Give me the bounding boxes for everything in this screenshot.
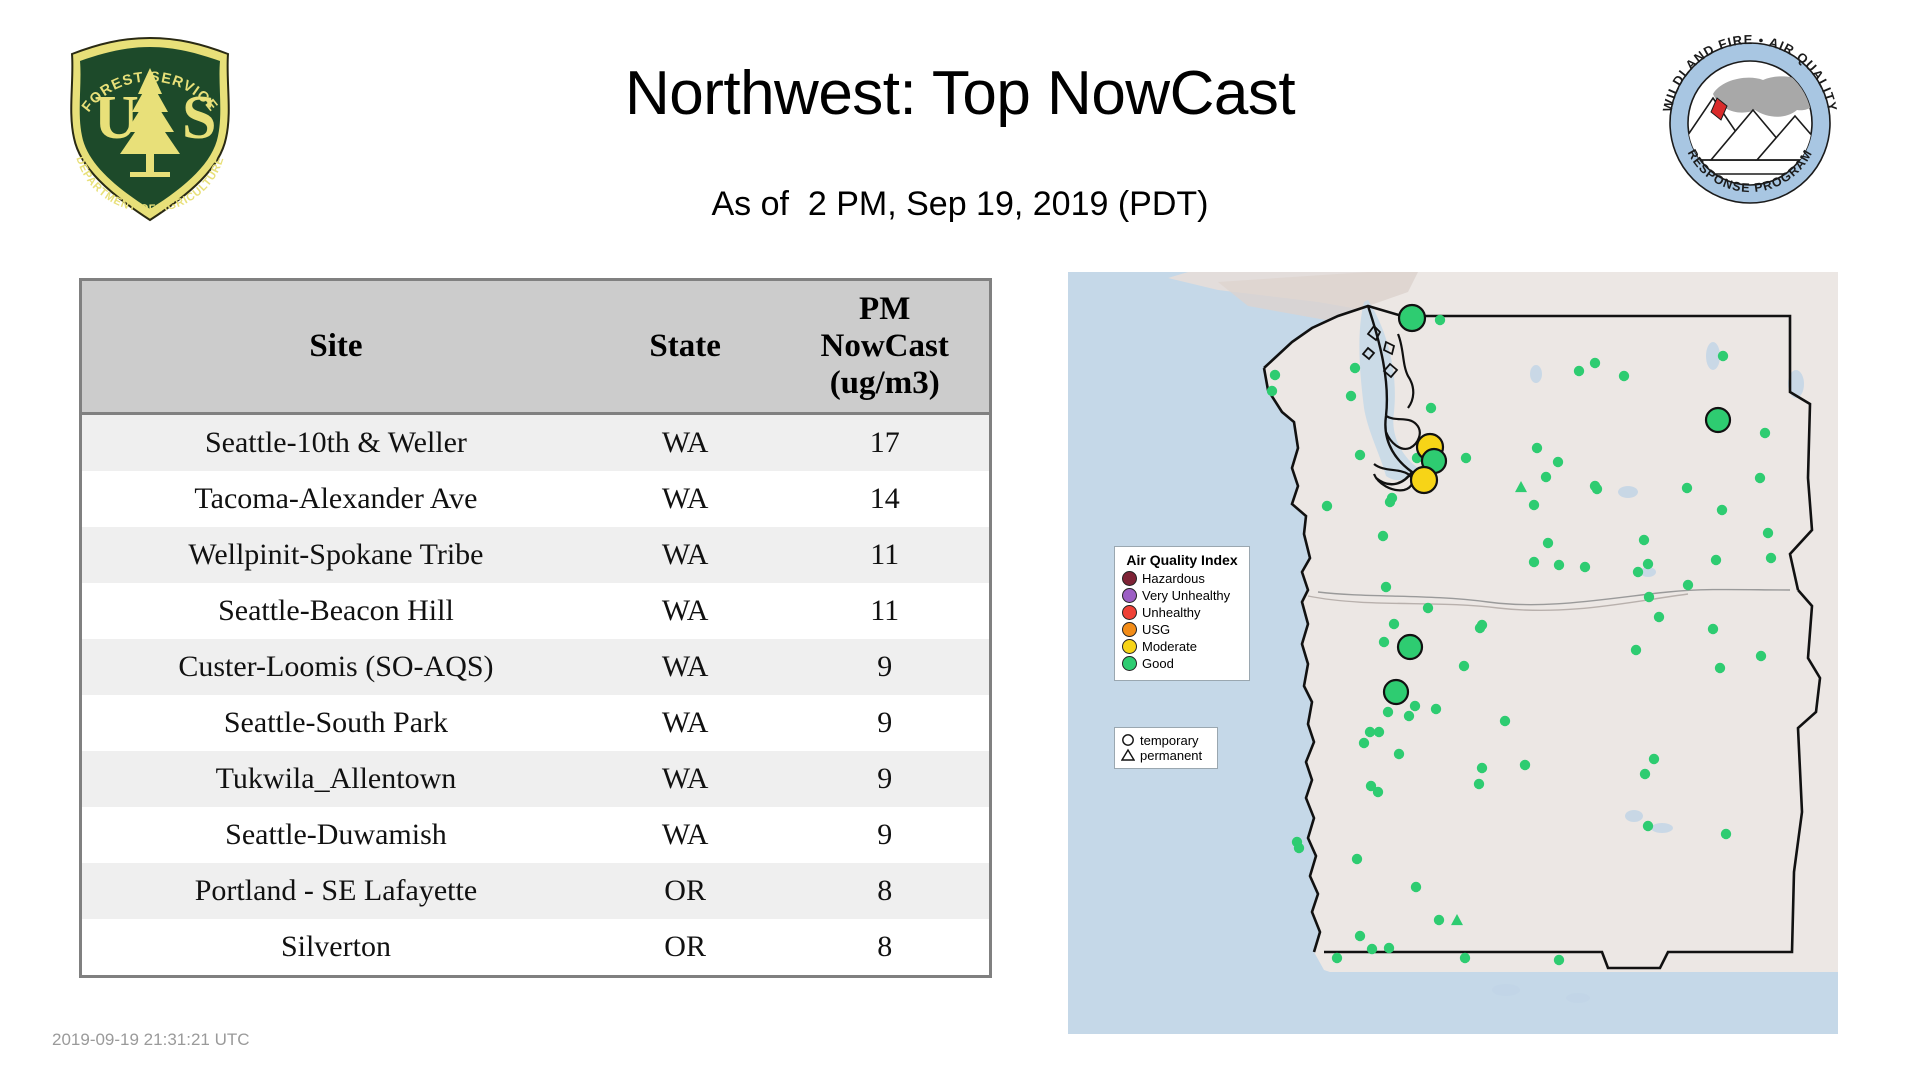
table-cell-site: Seattle-Beacon Hill — [82, 583, 590, 639]
map-monitor-point — [1717, 505, 1727, 515]
map-monitor-point — [1378, 531, 1388, 541]
column-header-pm-nowcast: PM NowCast (ug/m3) — [780, 281, 989, 413]
table-cell-value: 9 — [780, 751, 989, 807]
map-monitor-point — [1355, 931, 1365, 941]
map-monitor-point — [1554, 560, 1564, 570]
map-monitor-point — [1367, 944, 1377, 954]
map-top-site-marker — [1399, 305, 1425, 331]
legend-label-temporary: temporary — [1140, 734, 1199, 747]
map-monitor-point — [1270, 370, 1280, 380]
aqi-legend-row: USG — [1122, 622, 1242, 637]
aqi-legend-row: Very Unhealthy — [1122, 588, 1242, 603]
map-monitor-point — [1373, 787, 1383, 797]
circle-icon — [1121, 733, 1135, 747]
map-top-site-marker — [1706, 408, 1730, 432]
map-monitor-point — [1541, 472, 1551, 482]
map-monitor-point — [1410, 701, 1420, 711]
map-monitor-point — [1529, 557, 1539, 567]
table-row: Seattle-DuwamishWA9 — [82, 807, 989, 863]
map-top-site-marker — [1384, 680, 1408, 704]
map-monitor-point — [1654, 612, 1664, 622]
map-monitor-point — [1365, 727, 1375, 737]
aqi-swatch-icon — [1122, 605, 1137, 620]
map-monitor-point — [1553, 457, 1563, 467]
map-monitor-point — [1574, 366, 1584, 376]
table-cell-state: WA — [590, 751, 780, 807]
map-monitor-point — [1423, 603, 1433, 613]
table-row: SilvertonOR8 — [82, 919, 989, 975]
table-cell-state: WA — [590, 639, 780, 695]
map-monitor-point — [1756, 651, 1766, 661]
table-cell-state: WA — [590, 527, 780, 583]
page-title: Northwest: Top NowCast — [0, 58, 1920, 129]
table-cell-state: WA — [590, 471, 780, 527]
map-monitor-point — [1374, 727, 1384, 737]
map-monitor-point — [1294, 843, 1304, 853]
map-monitor-point — [1267, 386, 1277, 396]
map-monitor-point — [1434, 915, 1444, 925]
aqi-legend-label: Very Unhealthy — [1142, 589, 1230, 602]
table-cell-site: Custer-Loomis (SO-AQS) — [82, 639, 590, 695]
nowcast-table: Site State PM NowCast (ug/m3) Seattle-10… — [79, 278, 992, 978]
map-monitor-point — [1383, 707, 1393, 717]
table-cell-site: Tukwila_Allentown — [82, 751, 590, 807]
map-monitor-point — [1500, 716, 1510, 726]
map-monitor-point — [1766, 553, 1776, 563]
table-cell-site: Tacoma-Alexander Ave — [82, 471, 590, 527]
map-monitor-point — [1474, 779, 1484, 789]
map-monitor-point — [1639, 535, 1649, 545]
aqi-swatch-icon — [1122, 622, 1137, 637]
aqi-legend-label: Good — [1142, 657, 1174, 670]
map-monitor-point — [1532, 443, 1542, 453]
nowcast-map: Air Quality Index HazardousVery Unhealth… — [1068, 272, 1838, 1034]
table-cell-state: WA — [590, 583, 780, 639]
table-cell-state: WA — [590, 695, 780, 751]
site-type-legend: temporary permanent — [1114, 727, 1218, 769]
map-monitor-point — [1460, 953, 1470, 963]
map-monitor-point — [1543, 538, 1553, 548]
column-header-site: Site — [82, 281, 590, 413]
aqi-legend-row: Unhealthy — [1122, 605, 1242, 620]
map-monitor-point — [1379, 637, 1389, 647]
map-top-site-marker — [1398, 635, 1422, 659]
map-monitor-point — [1711, 555, 1721, 565]
aqi-swatch-icon — [1122, 588, 1137, 603]
aqi-legend-label: USG — [1142, 623, 1170, 636]
legend-row-permanent: permanent — [1121, 748, 1211, 762]
legend-label-permanent: permanent — [1140, 749, 1202, 762]
map-monitor-point — [1529, 500, 1539, 510]
map-monitor-point — [1640, 769, 1650, 779]
table-cell-value: 14 — [780, 471, 989, 527]
aqi-legend-row: Hazardous — [1122, 571, 1242, 586]
map-top-site-marker — [1411, 467, 1437, 493]
map-monitor-point — [1755, 473, 1765, 483]
map-monitor-point — [1763, 528, 1773, 538]
map-monitor-point — [1682, 483, 1692, 493]
table-cell-value: 9 — [780, 639, 989, 695]
table-cell-state: WA — [590, 807, 780, 863]
table-row: Seattle-South ParkWA9 — [82, 695, 989, 751]
column-header-line-2: NowCast — [784, 328, 985, 365]
map-monitor-point — [1355, 450, 1365, 460]
table-row: Portland - SE LafayetteOR8 — [82, 863, 989, 919]
map-monitor-point — [1426, 403, 1436, 413]
map-monitor-point — [1592, 484, 1602, 494]
table-cell-site: Portland - SE Lafayette — [82, 863, 590, 919]
map-monitor-point — [1389, 619, 1399, 629]
map-monitor-point — [1520, 760, 1530, 770]
table-row: Seattle-Beacon HillWA11 — [82, 583, 989, 639]
map-monitor-point — [1435, 315, 1445, 325]
map-monitor-point — [1644, 592, 1654, 602]
table-cell-value: 11 — [780, 527, 989, 583]
map-monitor-point — [1381, 582, 1391, 592]
aqi-swatch-icon — [1122, 639, 1137, 654]
map-land — [1264, 272, 1838, 972]
aqi-legend-label: Unhealthy — [1142, 606, 1201, 619]
table-cell-state: OR — [590, 863, 780, 919]
triangle-icon — [1121, 748, 1135, 762]
map-monitor-point — [1394, 749, 1404, 759]
map-monitor-point — [1721, 829, 1731, 839]
table-row: Wellpinit-Spokane TribeWA11 — [82, 527, 989, 583]
map-monitor-point — [1619, 371, 1629, 381]
table-row: Tukwila_AllentownWA9 — [82, 751, 989, 807]
footer-timestamp: 2019-09-19 21:31:21 UTC — [52, 1030, 250, 1050]
map-monitor-point — [1404, 711, 1414, 721]
map-monitor-point — [1643, 559, 1653, 569]
table-cell-site: Seattle-South Park — [82, 695, 590, 751]
map-monitor-point — [1590, 358, 1600, 368]
table-cell-value: 11 — [780, 583, 989, 639]
map-monitor-point — [1459, 661, 1469, 671]
column-header-line-1: PM — [784, 291, 985, 328]
map-monitor-point — [1554, 955, 1564, 965]
map-monitor-point — [1332, 953, 1342, 963]
map-monitor-point — [1431, 704, 1441, 714]
column-header-line-3: (ug/m3) — [784, 365, 985, 402]
map-monitor-point — [1708, 624, 1718, 634]
table-cell-value: 17 — [780, 413, 989, 471]
aqi-legend: Air Quality Index HazardousVery Unhealth… — [1114, 546, 1250, 681]
aqi-swatch-icon — [1122, 571, 1137, 586]
table-cell-value: 8 — [780, 863, 989, 919]
table-cell-state: OR — [590, 919, 780, 975]
map-monitor-point — [1359, 738, 1369, 748]
aqi-swatch-icon — [1122, 656, 1137, 671]
table-cell-site: Seattle-10th & Weller — [82, 413, 590, 471]
table-row: Seattle-10th & WellerWA17 — [82, 413, 989, 471]
table-cell-value: 9 — [780, 807, 989, 863]
map-monitor-point — [1322, 501, 1332, 511]
table-cell-site: Silverton — [82, 919, 590, 975]
map-monitor-point — [1475, 623, 1485, 633]
table-header-row: Site State PM NowCast (ug/m3) — [82, 281, 989, 413]
table-row: Tacoma-Alexander AveWA14 — [82, 471, 989, 527]
table-cell-site: Wellpinit-Spokane Tribe — [82, 527, 590, 583]
map-monitor-point — [1387, 493, 1397, 503]
map-monitor-point — [1346, 391, 1356, 401]
table-row: Custer-Loomis (SO-AQS)WA9 — [82, 639, 989, 695]
column-header-state: State — [590, 281, 780, 413]
map-monitor-point — [1461, 453, 1471, 463]
map-monitor-point — [1718, 351, 1728, 361]
map-monitor-point — [1384, 943, 1394, 953]
table-cell-state: WA — [590, 413, 780, 471]
map-monitor-point — [1350, 363, 1360, 373]
map-monitor-point — [1649, 754, 1659, 764]
aqi-legend-row: Good — [1122, 656, 1242, 671]
table-cell-site: Seattle-Duwamish — [82, 807, 590, 863]
map-monitor-point — [1580, 562, 1590, 572]
map-monitor-point — [1352, 854, 1362, 864]
aqi-legend-title: Air Quality Index — [1122, 552, 1242, 568]
map-monitor-point — [1633, 567, 1643, 577]
table-cell-value: 8 — [780, 919, 989, 975]
map-monitor-point — [1715, 663, 1725, 673]
map-monitor-point — [1643, 821, 1653, 831]
map-monitor-point — [1760, 428, 1770, 438]
aqi-legend-label: Hazardous — [1142, 572, 1205, 585]
page-subtitle: As of 2 PM, Sep 19, 2019 (PDT) — [0, 185, 1920, 224]
map-monitor-point — [1631, 645, 1641, 655]
aqi-legend-label: Moderate — [1142, 640, 1197, 653]
legend-row-temporary: temporary — [1121, 733, 1211, 747]
map-monitor-point — [1683, 580, 1693, 590]
aqi-legend-row: Moderate — [1122, 639, 1242, 654]
table-cell-value: 9 — [780, 695, 989, 751]
map-monitor-point — [1411, 882, 1421, 892]
map-monitor-point — [1477, 763, 1487, 773]
